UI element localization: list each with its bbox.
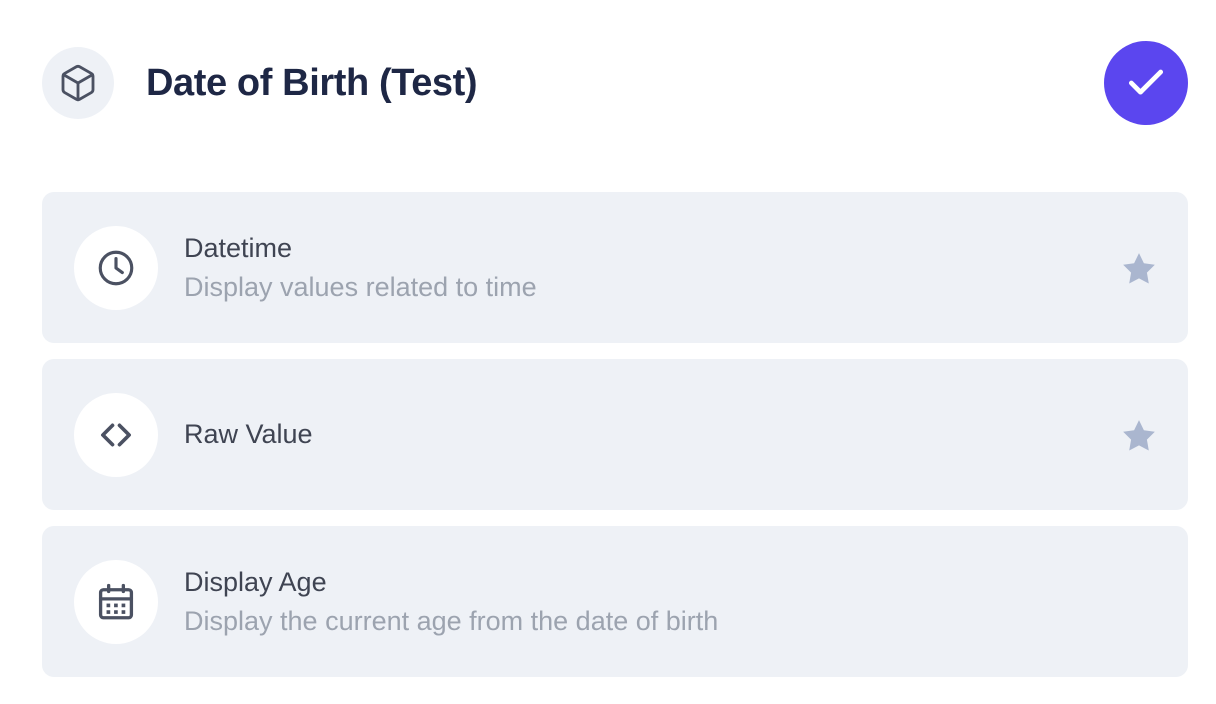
cube-icon	[42, 47, 114, 119]
star-icon[interactable]	[1120, 249, 1158, 287]
list-item-title: Display Age	[184, 565, 718, 600]
list-item-text: Raw Value	[184, 417, 313, 452]
check-icon	[1124, 61, 1168, 105]
list-item-subtitle: Display the current age from the date of…	[184, 604, 718, 639]
page-header: Date of Birth (Test)	[42, 40, 1188, 126]
list-item-subtitle: Display values related to time	[184, 270, 537, 305]
star-icon[interactable]	[1120, 416, 1158, 454]
list-item-text: Display Age Display the current age from…	[184, 565, 718, 638]
list-item[interactable]: Display Age Display the current age from…	[42, 526, 1188, 677]
confirm-button[interactable]	[1104, 41, 1188, 125]
list-item[interactable]: Raw Value	[42, 359, 1188, 510]
page-title: Date of Birth (Test)	[146, 64, 477, 102]
list-item[interactable]: Datetime Display values related to time	[42, 192, 1188, 343]
clock-icon	[74, 226, 158, 310]
calendar-icon	[74, 560, 158, 644]
list-item-title: Datetime	[184, 231, 537, 266]
options-list: Datetime Display values related to time …	[42, 192, 1188, 693]
page-root: Date of Birth (Test) Datetime Display va…	[0, 0, 1216, 704]
code-brackets-icon	[74, 393, 158, 477]
list-item-text: Datetime Display values related to time	[184, 231, 537, 304]
list-item-title: Raw Value	[184, 417, 313, 452]
